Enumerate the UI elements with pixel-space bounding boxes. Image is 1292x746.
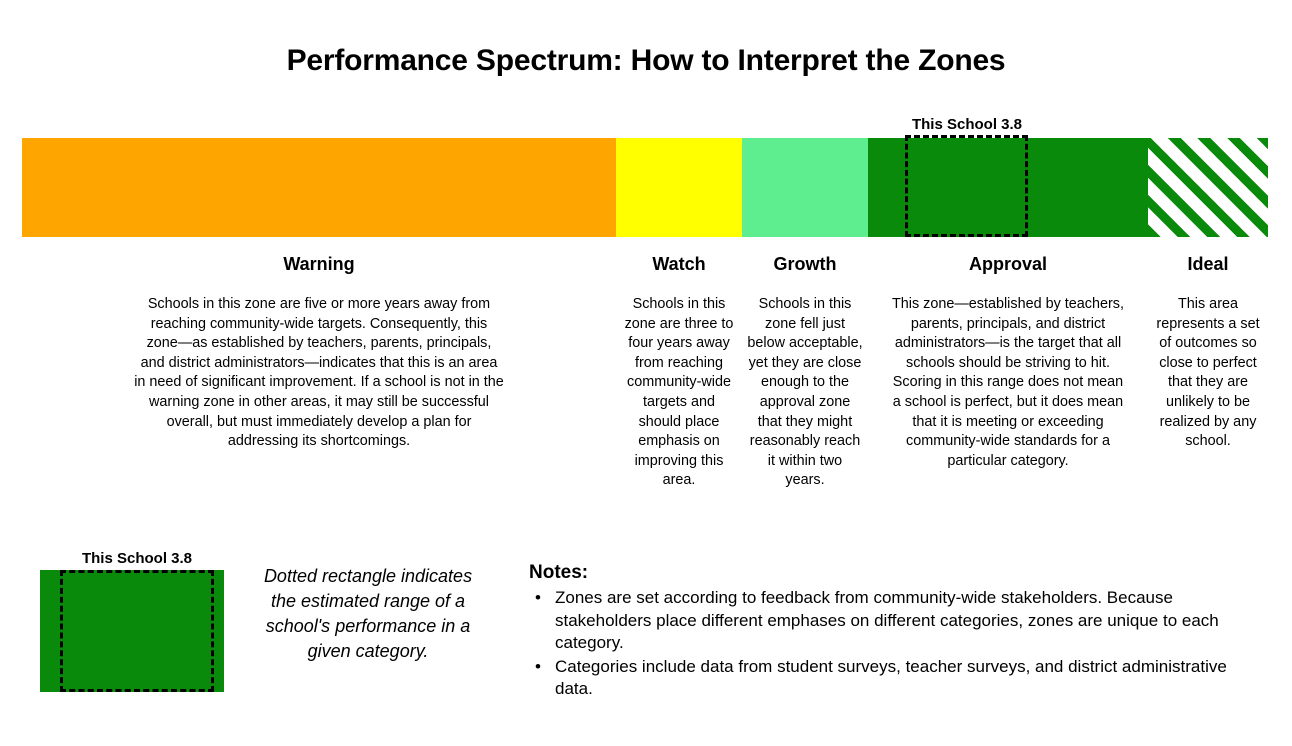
spectrum-zone-growth [742,138,868,237]
page-title: Performance Spectrum: How to Interpret t… [0,44,1292,78]
bullet-icon: • [535,587,541,610]
zone-label-watch: Watch [616,252,742,276]
notes-section: Notes: • Zones are set according to feed… [529,561,1229,702]
zone-column-approval: Approval This zone—established by teache… [868,252,1148,471]
zone-description-growth: Schools in this zone fell just below acc… [747,295,863,491]
zone-description-approval: This zone—established by teachers, paren… [889,295,1127,471]
zone-description-ideal: This area represents a set of outcomes s… [1156,295,1260,452]
notes-heading: Notes: [529,561,1229,585]
notes-item-text: Zones are set according to feedback from… [555,588,1219,652]
zone-column-growth: Growth Schools in this zone fell just be… [742,252,868,491]
bullet-icon: • [535,656,541,679]
school-marker-label: This School 3.8 [905,115,1029,135]
notes-item-text: Categories include data from student sur… [555,657,1227,699]
legend-caption: Dotted rectangle indicates the estimated… [255,564,481,664]
zone-label-growth: Growth [742,252,868,276]
spectrum-zone-ideal [1148,138,1268,237]
performance-spectrum-bar [22,138,1268,237]
zone-description-warning: Schools in this zone are five or more ye… [134,295,504,452]
school-marker-dashed-rectangle [905,135,1028,237]
zone-columns: Warning Schools in this zone are five or… [22,252,1268,527]
legend-dashed-rectangle [60,570,214,692]
notes-list: • Zones are set according to feedback fr… [529,587,1229,701]
spectrum-zone-warning [22,138,616,237]
zone-column-watch: Watch Schools in this zone are three to … [616,252,742,491]
spectrum-zone-watch [616,138,742,237]
legend-marker-label: This School 3.8 [60,549,214,569]
notes-item: • Categories include data from student s… [529,656,1229,701]
zone-description-watch: Schools in this zone are three to four y… [621,295,737,491]
zone-label-approval: Approval [868,252,1148,276]
zone-label-warning: Warning [22,252,616,276]
school-marker-label-wrap: This School 3.8 [905,115,1029,135]
notes-item: • Zones are set according to feedback fr… [529,587,1229,655]
zone-column-ideal: Ideal This area represents a set of outc… [1148,252,1268,452]
zone-label-ideal: Ideal [1148,252,1268,276]
zone-column-warning: Warning Schools in this zone are five or… [22,252,616,452]
